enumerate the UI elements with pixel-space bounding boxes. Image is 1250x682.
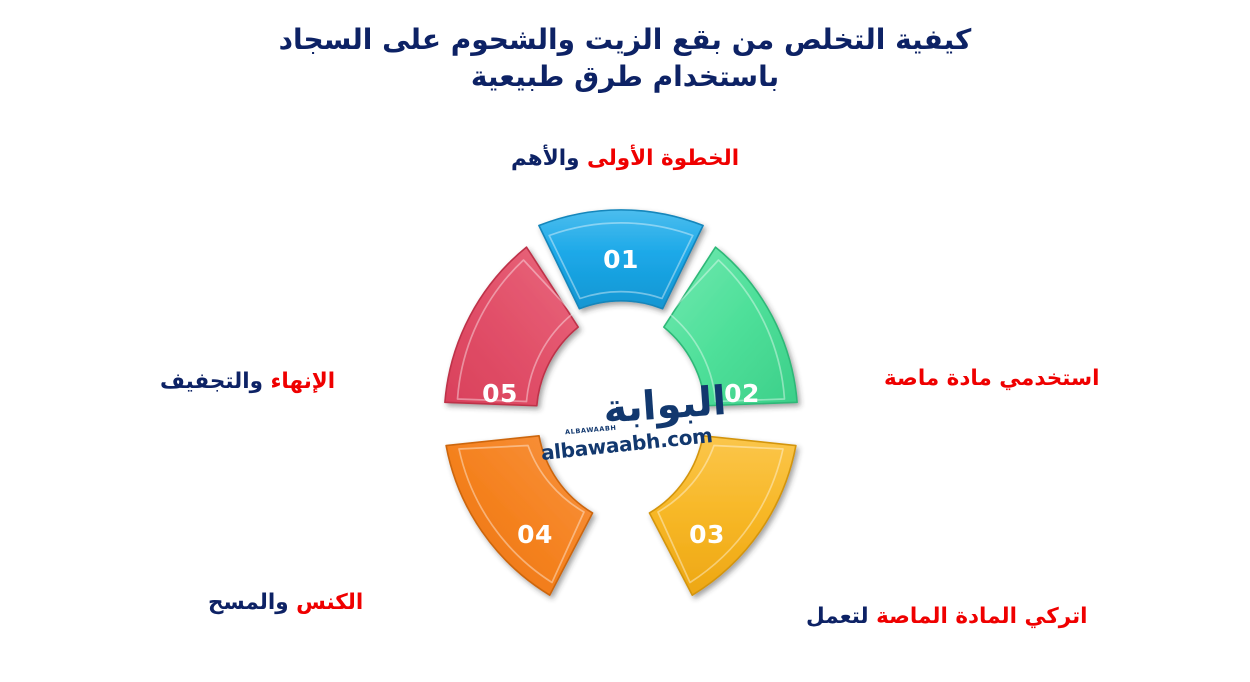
step-label-03-normal: لتعمل (806, 604, 869, 629)
infographic-canvas: كيفية التخلص من بقع الزيت والشحوم على ال… (0, 0, 1250, 682)
brand-logo: البوابة ALBAWAABH albawaabh.com (515, 378, 730, 490)
step-label-05: الإنهاء والتجفيف (160, 369, 335, 396)
step-label-03-highlight: اتركي المادة الماصة (876, 604, 1087, 629)
step-label-01: الخطوة الأولى والأهم (425, 146, 825, 173)
segment-number: 04 (517, 520, 553, 549)
segment-01[interactable]: 01 (539, 210, 703, 309)
step-label-02-highlight: استخدمي مادة ماصة (884, 366, 1100, 391)
step-label-04: الكنس والمسح (208, 590, 363, 617)
segment-number: 03 (689, 520, 725, 549)
step-label-01-highlight: الخطوة الأولى (587, 146, 739, 171)
step-label-04-highlight: الكنس (296, 590, 363, 615)
step-label-05-normal: والتجفيف (160, 369, 263, 394)
step-label-03: اتركي المادة الماصة لتعمل (806, 604, 1088, 631)
segment-number: 01 (603, 245, 639, 274)
step-label-05-highlight: الإنهاء (270, 369, 335, 394)
segment-number: 05 (482, 379, 518, 408)
page-title: كيفية التخلص من بقع الزيت والشحوم على ال… (215, 22, 1035, 96)
step-label-04-normal: والمسح (208, 590, 289, 615)
step-label-01-normal: والأهم (511, 146, 580, 171)
step-label-02: استخدمي مادة ماصة (884, 366, 1100, 393)
